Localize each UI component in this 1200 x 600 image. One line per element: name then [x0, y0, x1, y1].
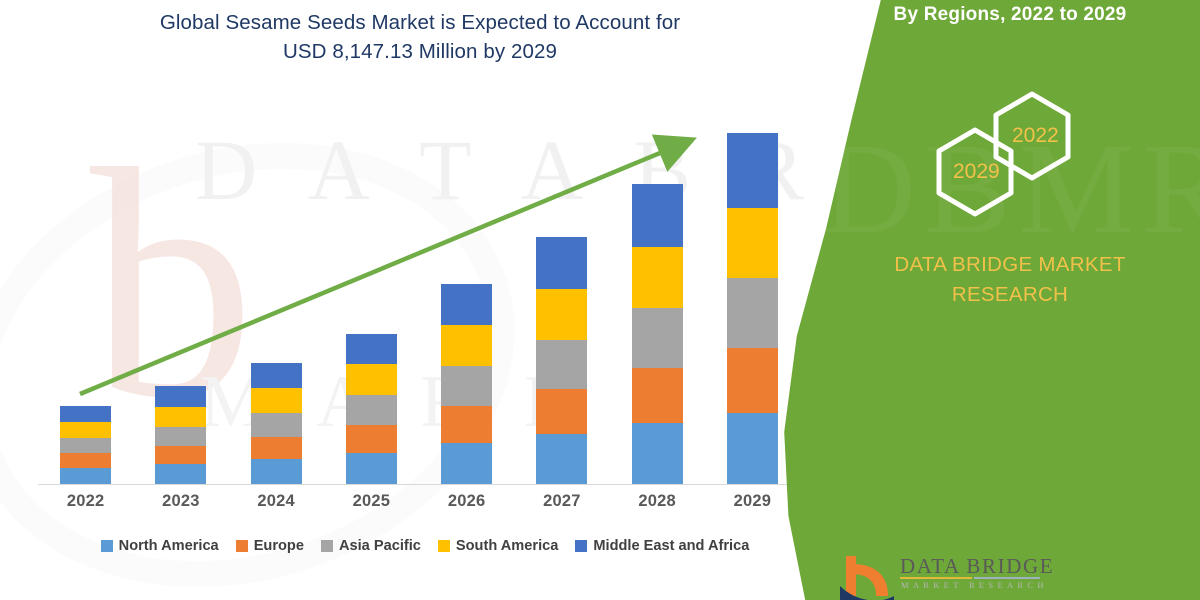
- bar-segment[interactable]: [632, 184, 683, 247]
- stacked-bar-chart: [0, 100, 820, 485]
- bar-segment[interactable]: [536, 340, 587, 389]
- hexagon-end-label: 2022: [1012, 124, 1059, 148]
- stacked-bar[interactable]: [536, 237, 587, 484]
- legend-swatch-icon: [575, 540, 587, 552]
- x-axis-label: 2023: [133, 492, 228, 511]
- company-logo: DATA BRIDGE MARKET RESEARCH: [838, 552, 1138, 600]
- bar-segment[interactable]: [60, 438, 111, 453]
- logo-name: DATA BRIDGE: [900, 554, 1054, 579]
- bar-segment[interactable]: [727, 278, 778, 348]
- page-title-line-1: Global Sesame Seeds Market is Expected t…: [30, 8, 810, 37]
- stacked-bar[interactable]: [441, 284, 492, 484]
- logo-mark-icon: [838, 552, 898, 600]
- hexagon-badges: 2022 2029: [920, 88, 1150, 228]
- bar-segment[interactable]: [632, 247, 683, 308]
- chart-baseline: [38, 484, 800, 485]
- stacked-bar[interactable]: [155, 386, 206, 484]
- bar-segment[interactable]: [251, 363, 302, 388]
- legend-item[interactable]: South America: [438, 538, 558, 554]
- bar-segment[interactable]: [536, 389, 587, 434]
- bar-slot: [514, 101, 609, 484]
- legend-swatch-icon: [321, 540, 333, 552]
- legend-label: North America: [119, 538, 219, 554]
- chart-legend: North AmericaEuropeAsia PacificSouth Ame…: [30, 538, 820, 554]
- bar-segment[interactable]: [727, 413, 778, 484]
- infographic-root: b D A T A B R I D G E M A R K E T R E S …: [0, 0, 1200, 600]
- bar-segment[interactable]: [155, 427, 206, 446]
- panel-heading: By Regions, 2022 to 2029: [840, 4, 1180, 26]
- bar-segment[interactable]: [251, 413, 302, 437]
- bar-segment[interactable]: [727, 133, 778, 208]
- stacked-bar[interactable]: [60, 406, 111, 484]
- legend-label: Middle East and Africa: [593, 538, 749, 554]
- bar-segment[interactable]: [441, 406, 492, 443]
- bar-segment[interactable]: [727, 348, 778, 413]
- bar-segment[interactable]: [60, 406, 111, 422]
- bar-segment[interactable]: [632, 308, 683, 368]
- x-axis-label: 2024: [229, 492, 324, 511]
- stacked-bar[interactable]: [632, 184, 683, 484]
- bar-segment[interactable]: [632, 423, 683, 484]
- panel-brand-line-1: DATA BRIDGE MARKET: [875, 250, 1145, 280]
- bar-slot: [419, 101, 514, 484]
- x-axis-labels: 20222023202420252026202720282029: [38, 492, 800, 511]
- bar-segment[interactable]: [536, 237, 587, 289]
- bar-slot: [324, 101, 419, 484]
- panel-brand-line-2: RESEARCH: [875, 280, 1145, 310]
- branding-panel: DBMR By Regions, 2022 to 2029 2022 2029 …: [780, 0, 1200, 600]
- logo-tagline: MARKET RESEARCH: [901, 580, 1048, 590]
- bar-segment[interactable]: [441, 366, 492, 406]
- bar-segment[interactable]: [346, 453, 397, 484]
- x-axis-label: 2025: [324, 492, 419, 511]
- bar-segment[interactable]: [251, 388, 302, 413]
- legend-label: Europe: [254, 538, 304, 554]
- page-title: Global Sesame Seeds Market is Expected t…: [30, 8, 810, 66]
- stacked-bar[interactable]: [251, 363, 302, 484]
- stacked-bar[interactable]: [727, 133, 778, 484]
- bar-segment[interactable]: [536, 289, 587, 340]
- bar-segment[interactable]: [251, 437, 302, 459]
- bar-segment[interactable]: [346, 425, 397, 453]
- legend-item[interactable]: Middle East and Africa: [575, 538, 749, 554]
- stacked-bar[interactable]: [346, 334, 397, 484]
- bar-segment[interactable]: [60, 422, 111, 438]
- bar-slot: [610, 101, 705, 484]
- bar-segment[interactable]: [155, 386, 206, 407]
- bar-segment[interactable]: [346, 364, 397, 395]
- x-axis-label: 2027: [514, 492, 609, 511]
- legend-item[interactable]: Europe: [236, 538, 304, 554]
- chart-bars: [38, 101, 800, 484]
- bar-segment[interactable]: [155, 446, 206, 464]
- logo-divider: [900, 577, 1040, 579]
- panel-brand: DATA BRIDGE MARKET RESEARCH: [875, 250, 1145, 310]
- bar-segment[interactable]: [346, 334, 397, 364]
- legend-swatch-icon: [101, 540, 113, 552]
- bar-segment[interactable]: [441, 284, 492, 325]
- legend-swatch-icon: [236, 540, 248, 552]
- bar-slot: [133, 101, 228, 484]
- bar-segment[interactable]: [60, 468, 111, 484]
- bar-segment[interactable]: [155, 464, 206, 484]
- bar-segment[interactable]: [441, 443, 492, 484]
- bar-slot: [229, 101, 324, 484]
- bar-segment[interactable]: [727, 208, 778, 278]
- x-axis-label: 2028: [610, 492, 705, 511]
- bar-segment[interactable]: [251, 459, 302, 484]
- bar-segment[interactable]: [632, 368, 683, 423]
- x-axis-label: 2026: [419, 492, 514, 511]
- bar-segment[interactable]: [536, 434, 587, 484]
- x-axis-label: 2022: [38, 492, 133, 511]
- legend-item[interactable]: North America: [101, 538, 219, 554]
- hexagon-start-label: 2029: [953, 160, 1000, 184]
- bar-segment[interactable]: [346, 395, 397, 425]
- legend-item[interactable]: Asia Pacific: [321, 538, 421, 554]
- legend-swatch-icon: [438, 540, 450, 552]
- legend-label: Asia Pacific: [339, 538, 421, 554]
- bar-segment[interactable]: [60, 453, 111, 468]
- bar-segment[interactable]: [441, 325, 492, 366]
- legend-label: South America: [456, 538, 558, 554]
- bar-segment[interactable]: [155, 407, 206, 427]
- bar-slot: [38, 101, 133, 484]
- page-title-line-2: USD 8,147.13 Million by 2029: [30, 37, 810, 66]
